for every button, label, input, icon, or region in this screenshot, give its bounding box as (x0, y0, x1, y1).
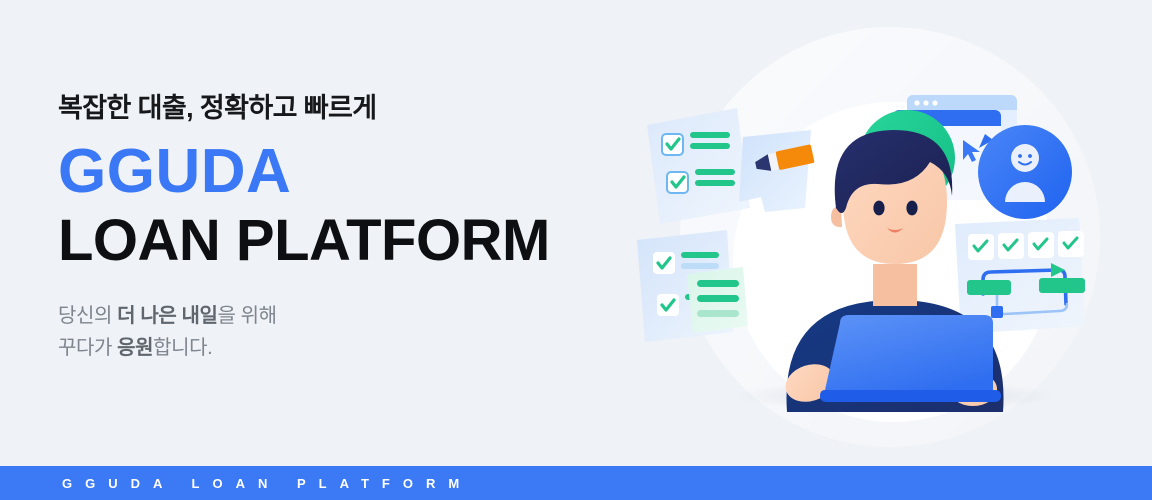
hero-illustration (615, 12, 1152, 452)
tagline-2-prefix: 꾸다가 (58, 337, 117, 359)
tagline-2-strong: 응원 (117, 337, 153, 359)
eye-left (873, 201, 884, 216)
brand-title: GGUDA (58, 140, 618, 203)
checklist-card-top-left (647, 108, 750, 224)
footer-strip: GGUDA LOAN PLATFORM (0, 466, 1152, 500)
tagline-2-suffix: 합니다. (153, 337, 212, 359)
hero-banner: 복잡한 대출, 정확하고 빠르게 GGUDA LOAN PLATFORM 당신의… (0, 0, 1152, 500)
blue-chat-bubble-avatar (978, 125, 1072, 219)
neck (873, 264, 917, 306)
tagline-1-strong: 더 나은 내일 (117, 305, 217, 327)
tagline-line-1: 당신의 더 나은 내일을 위해 (58, 300, 618, 332)
tagline-line-2: 꾸다가 응원합니다. (58, 332, 618, 364)
hero-copy-block: 복잡한 대출, 정확하고 빠르게 GGUDA LOAN PLATFORM 당신의… (58, 92, 618, 365)
mint-note-card (687, 267, 748, 333)
footer-strip-text: GGUDA LOAN PLATFORM (0, 476, 472, 491)
eye-right (906, 201, 917, 216)
tagline-1-prefix: 당신의 (58, 305, 117, 327)
product-title: LOAN PLATFORM (58, 211, 618, 272)
laptop (820, 315, 1001, 402)
tagline-1-suffix: 을 위해 (218, 305, 277, 327)
hero-tagline: 당신의 더 나은 내일을 위해 꾸다가 응원합니다. (58, 300, 618, 365)
hero-eyebrow: 복잡한 대출, 정확하고 빠르게 (58, 92, 618, 126)
